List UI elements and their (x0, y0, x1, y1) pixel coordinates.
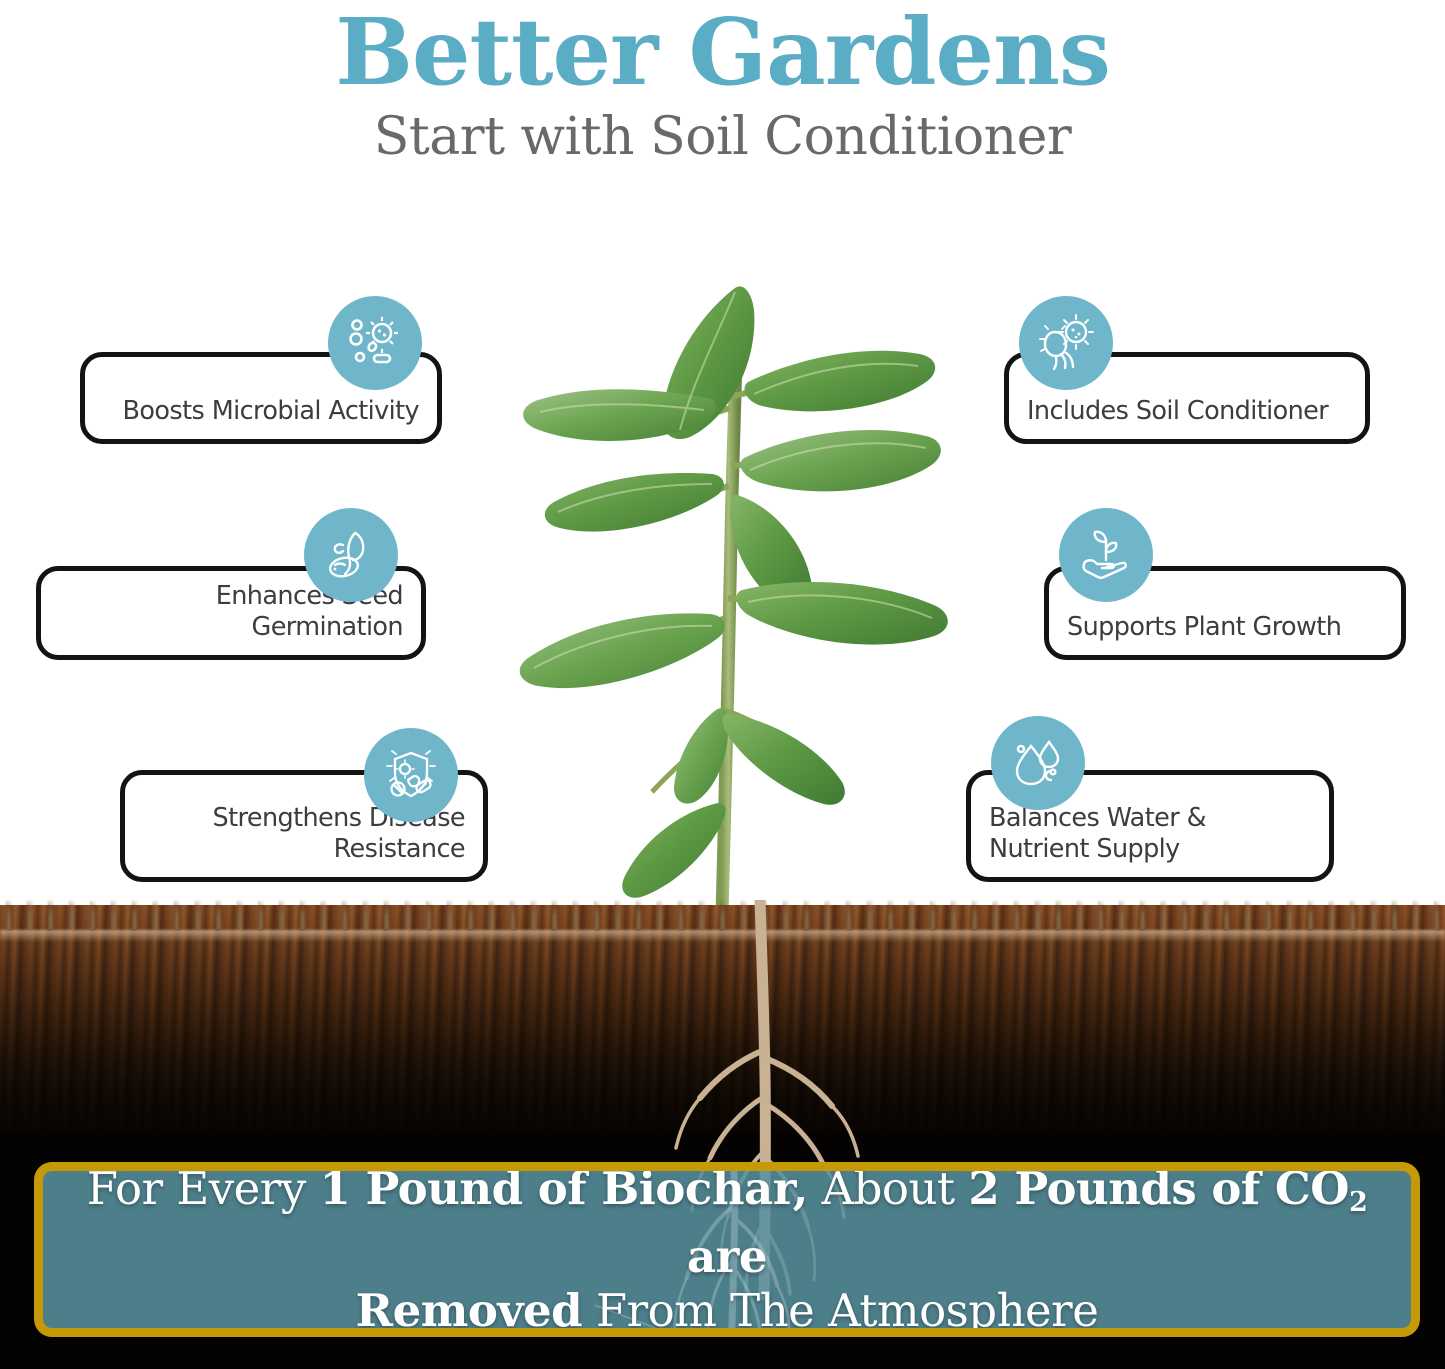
banner-line2-rest: From The Atmosphere (582, 1284, 1098, 1337)
infographic-canvas: Better Gardens Start with Soil Condition… (0, 0, 1445, 1369)
feature-label: Balances Water & Nutrient Supply (989, 803, 1311, 865)
banner-line1-lead: For Every (87, 1162, 320, 1215)
microbe-icon (328, 296, 422, 390)
sprouting-seed-icon (304, 508, 398, 602)
banner-line1-bold1: 1 Pound of Biochar, (320, 1162, 808, 1215)
bacteria-virus-icon (1019, 296, 1113, 390)
banner-text: For Every 1 Pound of Biochar, About 2 Po… (77, 1162, 1377, 1337)
feature-label: Includes Soil Conditioner (1027, 396, 1347, 427)
banner-line1-mid: About (808, 1162, 969, 1215)
co2-fact-banner: For Every 1 Pound of Biochar, About 2 Po… (34, 1162, 1420, 1337)
hand-sprout-icon (1059, 508, 1153, 602)
water-drops-icon (991, 716, 1085, 810)
plant-illustration (430, 258, 1020, 918)
banner-co2-subscript: 2 (1349, 1187, 1367, 1218)
banner-line1-bold2: 2 Pounds of CO (968, 1162, 1349, 1215)
feature-label: Boosts Microbial Activity (103, 396, 419, 427)
banner-line1-bold3: are (687, 1230, 767, 1283)
page-subtitle: Start with Soil Conditioner (0, 108, 1445, 166)
banner-line2-bold: Removed (356, 1284, 582, 1337)
shield-germ-icon (364, 728, 458, 822)
page-title: Better Gardens (0, 4, 1445, 100)
feature-label: Supports Plant Growth (1067, 612, 1383, 643)
